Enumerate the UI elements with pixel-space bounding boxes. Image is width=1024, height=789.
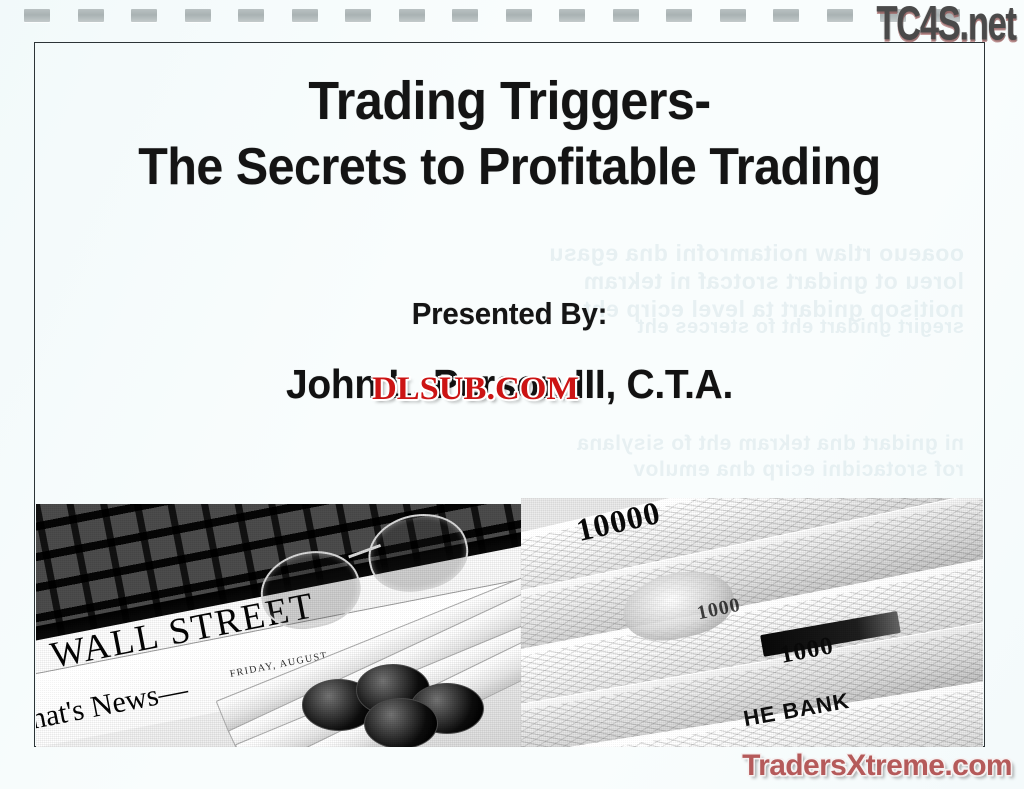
photo-japanese-yen-banknotes: 10000 1000 1000 HE BANK <box>521 498 983 747</box>
binding-holes-strip <box>0 9 1024 23</box>
binding-hole <box>613 9 639 22</box>
coin <box>364 698 438 747</box>
binding-hole <box>720 9 746 22</box>
binding-hole <box>345 9 371 22</box>
binding-hole <box>506 9 532 22</box>
binding-hole <box>559 9 585 22</box>
scanned-page: ooaeuo rtlaw noitamrofni dna egasu loreu… <box>0 0 1024 789</box>
photo-keyboard-wall-street-journal: WALL STREET FRIDAY, AUGUST hat's News— <box>36 504 521 747</box>
binding-hole <box>666 9 692 22</box>
watermark-tradersxtreme: TradersXtreme.com <box>742 749 1012 783</box>
binding-hole <box>78 9 104 22</box>
binding-hole <box>773 9 799 22</box>
binding-hole <box>238 9 264 22</box>
binding-hole <box>292 9 318 22</box>
page-title-line-2: The Secrets to Profitable Trading <box>67 141 951 194</box>
photo-strip: WALL STREET FRIDAY, AUGUST hat's News— <box>36 498 983 747</box>
watermark-dlsub: DLSUB.COM <box>372 371 579 408</box>
watermark-tc4s: TC4S.net <box>877 0 1016 51</box>
coins-graphic <box>298 660 492 743</box>
binding-hole <box>827 9 853 22</box>
page-title-line-1: Trading Triggers- <box>67 74 951 129</box>
binding-hole <box>131 9 157 22</box>
binding-hole <box>24 9 50 22</box>
binding-hole <box>452 9 478 22</box>
binding-hole <box>399 9 425 22</box>
binding-hole <box>185 9 211 22</box>
presented-by-label: Presented By: <box>58 296 961 332</box>
slide-title-block: Trading Triggers- The Secrets to Profita… <box>34 74 985 194</box>
